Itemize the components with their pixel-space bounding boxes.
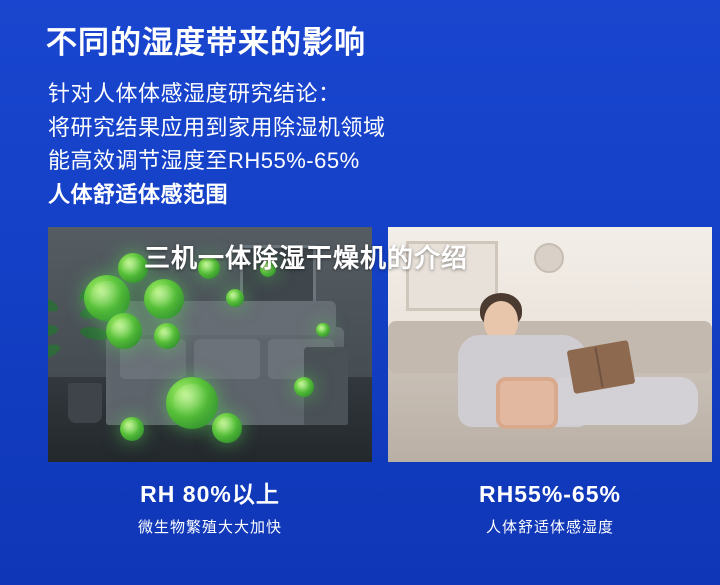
microbe-icon — [120, 417, 144, 441]
microbe-icon — [294, 377, 314, 397]
caption-left-title: RH 80%以上 — [48, 480, 372, 509]
microbe-icon — [316, 323, 330, 337]
living-room-illustration — [388, 227, 712, 462]
caption-row: RH 80%以上 微生物繁殖大大加快 RH55%-65% 人体舒适体感湿度 — [48, 480, 712, 537]
caption-left-subtitle: 微生物繁殖大大加快 — [48, 516, 372, 537]
wall-clock-icon — [534, 243, 564, 273]
caption-right-subtitle: 人体舒适体感湿度 — [388, 516, 712, 537]
microbe-icon — [226, 289, 244, 307]
caption-left: RH 80%以上 微生物繁殖大大加快 — [48, 480, 372, 537]
bullet-list: 针对人体体感湿度研究结论： 将研究结果应用到家用除湿机领域 能高效调节湿度至RH… — [48, 77, 694, 211]
wall-frame — [240, 245, 316, 305]
bullet-line-3: 能高效调节湿度至RH55%-65% — [48, 144, 694, 177]
bullet-line-1: 针对人体体感湿度研究结论： — [48, 77, 694, 110]
microbe-icon — [166, 377, 218, 429]
microbe-icon — [198, 257, 220, 279]
microbe-icon — [212, 413, 242, 443]
room-illustration — [48, 227, 372, 462]
caption-right: RH55%-65% 人体舒适体感湿度 — [388, 480, 712, 537]
microbe-icon — [106, 313, 142, 349]
caption-right-title: RH55%-65% — [388, 480, 712, 509]
microbe-icon — [154, 323, 180, 349]
page-title: 不同的湿度带来的影响 — [46, 24, 694, 61]
photo-woman-reading-on-sofa — [388, 227, 712, 462]
plant-pot — [68, 383, 102, 423]
photo-dark-room-with-microbes — [48, 227, 372, 462]
microbe-icon — [118, 253, 148, 283]
microbe-icon — [144, 279, 184, 319]
microbe-icon — [260, 261, 276, 277]
photo-row: 三机一体除湿干燥机的介绍 — [48, 227, 712, 462]
poster-page: 不同的湿度带来的影响 针对人体体感湿度研究结论： 将研究结果应用到家用除湿机领域… — [0, 0, 720, 585]
throw-pillow — [496, 377, 558, 429]
sofa-cushion — [194, 339, 260, 379]
bullet-line-4: 人体舒适体感范围 — [48, 178, 694, 211]
bullet-line-2: 将研究结果应用到家用除湿机领域 — [48, 111, 694, 144]
